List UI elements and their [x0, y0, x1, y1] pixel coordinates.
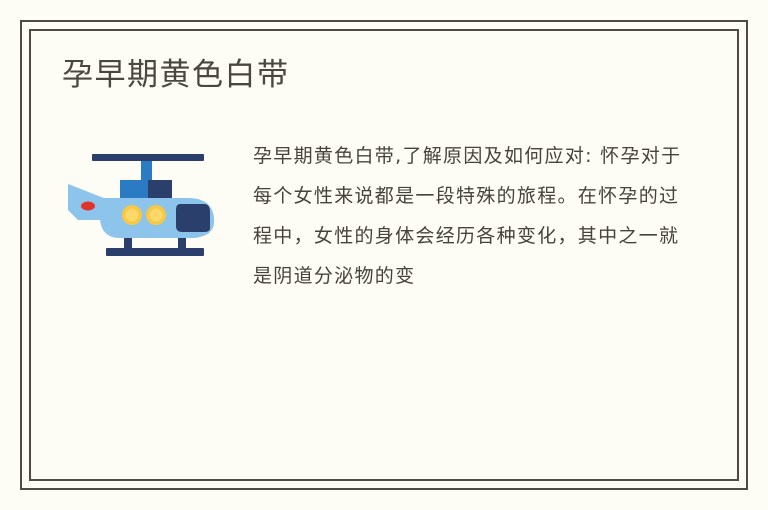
document-page: 孕早期黄色白带 [0, 0, 768, 510]
helicopter-icon [62, 142, 222, 260]
article-body-row: 孕早期黄色白带,了解原因及如何应对: 怀孕对于每个女性来说都是一段特殊的旅程。在… [62, 136, 703, 296]
illustration-container [62, 136, 227, 260]
article-body-text: 孕早期黄色白带,了解原因及如何应对: 怀孕对于每个女性来说都是一段特殊的旅程。在… [253, 136, 685, 296]
page-title: 孕早期黄色白带 [62, 57, 703, 94]
content-area: 孕早期黄色白带 [29, 29, 739, 481]
